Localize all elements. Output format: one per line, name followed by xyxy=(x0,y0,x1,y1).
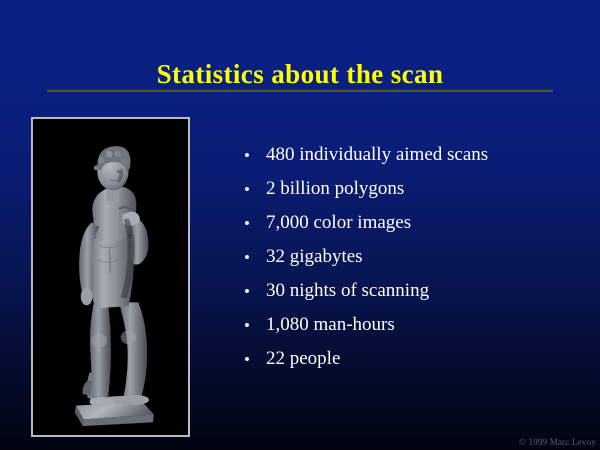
list-item: 480 individually aimed scans xyxy=(240,138,590,172)
list-item-label: 1,080 man-hours xyxy=(266,314,395,335)
bullet-dot-icon xyxy=(245,187,249,191)
statistics-bullet-list: 480 individually aimed scans 2 billion p… xyxy=(240,138,590,376)
list-item: 7,000 color images xyxy=(240,206,590,240)
copyright-notice: © 1999 Marc Levoy xyxy=(519,437,596,447)
statue-left-leg xyxy=(90,304,111,398)
list-item-label: 7,000 color images xyxy=(266,212,411,233)
presentation-slide: Statistics about the scan xyxy=(0,0,600,450)
statue-image-frame xyxy=(31,117,190,437)
list-item: 32 gigabytes xyxy=(240,240,590,274)
list-item-label: 32 gigabytes xyxy=(266,246,363,267)
list-item: 2 billion polygons xyxy=(240,172,590,206)
list-item: 22 people xyxy=(240,342,590,376)
bullet-dot-icon xyxy=(245,289,249,293)
bullet-dot-icon xyxy=(245,357,249,361)
bullet-dot-icon xyxy=(245,255,249,259)
list-item: 30 nights of scanning xyxy=(240,274,590,308)
page-title: Statistics about the scan xyxy=(0,58,600,90)
bullet-dot-icon xyxy=(245,323,249,327)
list-item: 1,080 man-hours xyxy=(240,308,590,342)
title-divider-rule xyxy=(47,89,553,92)
list-item-label: 30 nights of scanning xyxy=(266,280,429,301)
bullet-dot-icon xyxy=(245,153,249,157)
david-statue-image xyxy=(33,119,188,435)
list-item-label: 2 billion polygons xyxy=(266,178,404,199)
list-item-label: 22 people xyxy=(266,348,340,369)
bullet-dot-icon xyxy=(245,221,249,225)
list-item-label: 480 individually aimed scans xyxy=(266,144,488,165)
